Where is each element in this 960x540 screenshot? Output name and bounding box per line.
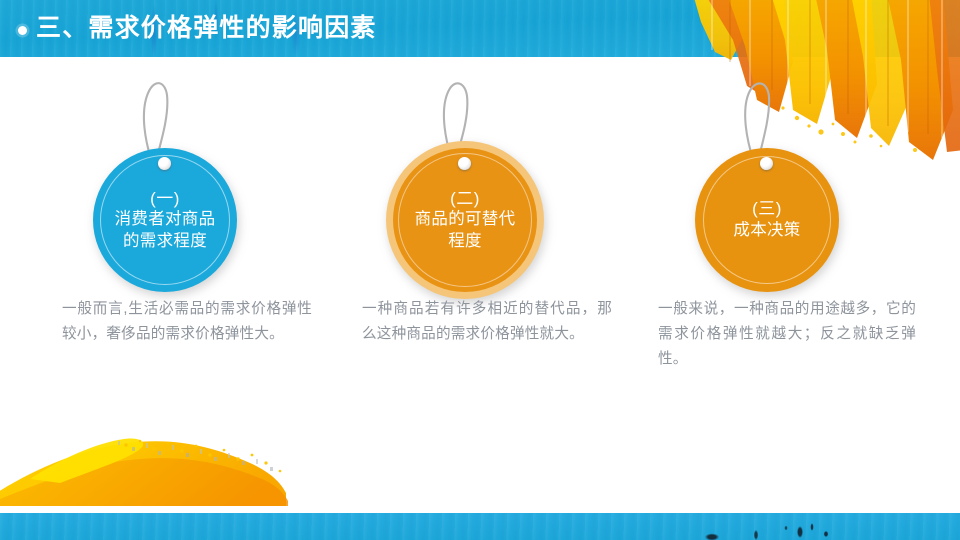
grommet-icon-2 bbox=[458, 157, 471, 170]
tag-number-3: (三) bbox=[752, 198, 782, 220]
tag-label-2: 商品的可替代程度 bbox=[413, 209, 517, 252]
content-columns: (一) 消费者对商品的需求程度 一般而言,生活必需品的需求价格弹性较小，奢侈品的… bbox=[0, 57, 960, 477]
factor-column-2: (二) 商品的可替代程度 一种商品若有许多相近的替代品，那么这种商品的需求价格弹… bbox=[328, 57, 628, 477]
grommet-icon-3 bbox=[760, 157, 773, 170]
grommet-icon-1 bbox=[158, 157, 171, 170]
slide-title-row: 三、需求价格弹性的影响因素 bbox=[18, 0, 377, 57]
dot-bullet-icon bbox=[18, 26, 27, 35]
page-title: 三、需求价格弹性的影响因素 bbox=[36, 16, 377, 41]
tag-2: (二) 商品的可替代程度 bbox=[379, 79, 549, 294]
tag-number-1: (一) bbox=[150, 188, 180, 210]
factor-body-2: 一种商品若有许多相近的替代品，那么这种商品的需求价格弹性就大。 bbox=[362, 297, 612, 347]
tag-label-3: 成本决策 bbox=[733, 220, 800, 241]
factor-body-3: 一般来说，一种商品的用途越多，它的需求价格弹性就越大；反之就缺乏弹性。 bbox=[658, 297, 916, 372]
ink-speckles-icon bbox=[690, 513, 870, 540]
footer-band bbox=[0, 513, 960, 540]
factor-column-3: (三) 成本决策 一般来说，一种商品的用途越多，它的需求价格弹性就越大；反之就缺… bbox=[628, 57, 928, 477]
tag-number-2: (二) bbox=[450, 188, 480, 210]
slide: 三、需求价格弹性的影响因素 bbox=[0, 0, 960, 540]
tag-3: (三) 成本决策 bbox=[681, 79, 851, 294]
tag-label-1: 消费者对商品的需求程度 bbox=[113, 209, 217, 252]
tag-1: (一) 消费者对商品的需求程度 bbox=[79, 79, 249, 294]
factor-body-1: 一般而言,生活必需品的需求价格弹性较小，奢侈品的需求价格弹性大。 bbox=[62, 297, 312, 347]
factor-column-1: (一) 消费者对商品的需求程度 一般而言,生活必需品的需求价格弹性较小，奢侈品的… bbox=[28, 57, 328, 477]
